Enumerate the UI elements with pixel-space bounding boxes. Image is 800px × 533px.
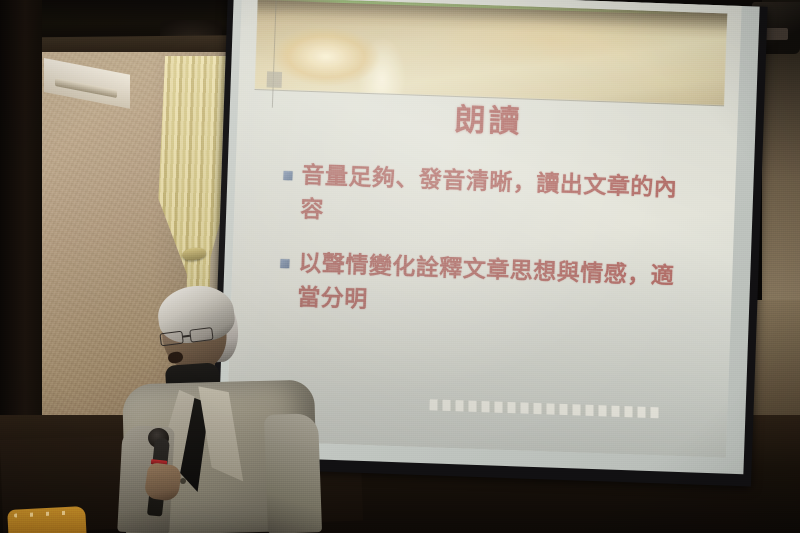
lens-left xyxy=(159,331,183,347)
orange-chair xyxy=(7,506,87,533)
slide-bullet-list: 音量足夠、發音清晰，讀出文章的內容 以聲情變化詮釋文章思想與情感，適當分明 xyxy=(278,158,696,348)
bullet-square-icon xyxy=(283,171,292,180)
bullet-text: 以聲情變化詮釋文章思想與情感，適當分明 xyxy=(297,247,693,329)
lens-right xyxy=(189,327,213,343)
slide-footer-filmstrip xyxy=(429,399,659,418)
slide-corner-square xyxy=(267,71,283,88)
list-item: 以聲情變化詮釋文章思想與情感，適當分明 xyxy=(279,246,693,328)
lecture-hall-photo: 朗讀 音量足夠、發音清晰，讀出文章的內容 以聲情變化詮釋文章思想與情感，適當分明 xyxy=(0,0,800,533)
bullet-text: 音量足夠、發音清晰，讀出文章的內容 xyxy=(300,159,696,241)
jacket-button xyxy=(180,478,186,484)
list-item: 音量足夠、發音清晰，讀出文章的內容 xyxy=(282,158,696,240)
bullet-square-icon xyxy=(280,259,289,268)
speaker-presenter xyxy=(120,286,320,533)
arm-right xyxy=(264,413,322,533)
